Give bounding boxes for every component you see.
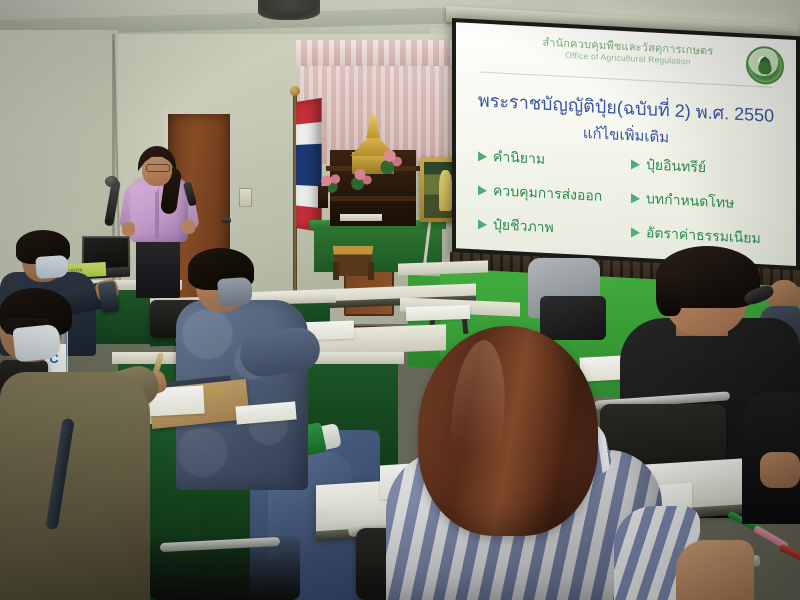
slide-bullet-label: ควบคุมการส่งออก	[493, 180, 602, 208]
stool-leg-right	[368, 262, 374, 280]
portrait-figure	[439, 170, 452, 211]
agricultural-regulation-emblem-icon	[746, 45, 784, 85]
arrow-bullet-icon	[478, 185, 487, 195]
attendee-e-hair-side	[656, 272, 682, 316]
slide-bullet-label: ปุ๋ยชีวภาพ	[493, 214, 554, 239]
altar-shelf-lower	[330, 196, 416, 201]
arrow-bullet-icon	[631, 159, 640, 169]
arrow-bullet-icon	[478, 151, 487, 161]
slide-bullet-item: ปุ๋ยอินทรีย์	[631, 153, 778, 183]
slide-bullet-item: ควบคุมการส่งออก	[478, 179, 625, 209]
slide-divider	[480, 71, 772, 87]
arrow-bullet-icon	[631, 227, 640, 237]
flag-finial-icon	[290, 86, 300, 96]
attendee-d-hair	[418, 326, 598, 536]
face-mask-icon	[217, 277, 253, 307]
flower-arrangement-right	[378, 148, 406, 174]
pen-red-icon[interactable]	[778, 544, 800, 568]
attendee-d-forearm	[676, 540, 754, 600]
flower-arrangement-middle	[350, 166, 376, 190]
slide-canvas: สำนักควบคุมพืชและวัสดุการเกษตร Office of…	[456, 22, 796, 266]
curtain-valance	[296, 40, 454, 66]
presenter-hand-left	[122, 222, 135, 236]
door-handle-icon[interactable]	[222, 218, 231, 223]
thai-national-flag-icon	[296, 98, 322, 232]
attendee-b-jacket	[0, 372, 150, 600]
altar-offering-tray	[340, 214, 382, 221]
slide-bullet-label: บทกำหนดโทษ	[646, 188, 734, 215]
slide-bullet-list: คำนิยาม ปุ๋ยอินทรีย์ ควบคุมการส่งออก บทก…	[478, 145, 778, 251]
presenter-glasses-icon	[146, 164, 170, 172]
presenter-skirt	[136, 236, 180, 298]
flower-vase	[318, 186, 328, 208]
attendee-e-hand	[760, 452, 800, 488]
ceiling-vent-icon	[258, 0, 320, 20]
arrow-bullet-icon	[478, 219, 487, 229]
face-mask-icon	[35, 255, 68, 279]
presenter-hand-right	[182, 220, 195, 234]
bag-dark	[540, 296, 606, 340]
slide-bullet-item: ปุ๋ยชีวภาพ	[478, 213, 625, 243]
paper-sheet	[406, 305, 470, 321]
light-switch-icon[interactable]	[239, 188, 252, 207]
microphone-head	[105, 176, 118, 187]
seminar-room-photo: สำนักควบคุมพืชและวัสดุการเกษตร Office of…	[0, 0, 800, 600]
slide-bullet-item: บทกำหนดโทษ	[631, 187, 778, 217]
stool-leg-left	[333, 262, 339, 280]
emblem-inner-glyph	[756, 56, 774, 75]
slide-bullet-label: ปุ๋ยอินทรีย์	[646, 154, 706, 179]
projector-screen: สำนักควบคุมพืชและวัสดุการเกษตร Office of…	[452, 18, 800, 274]
arrow-bullet-icon	[631, 193, 640, 203]
face-mask-icon	[12, 324, 61, 363]
slide-org-header: สำนักควบคุมพืชและวัสดุการเกษตร Office of…	[514, 35, 742, 69]
slide-bullet-label: คำนิยาม	[493, 146, 545, 171]
slide-bullet-item: คำนิยาม	[478, 145, 625, 175]
